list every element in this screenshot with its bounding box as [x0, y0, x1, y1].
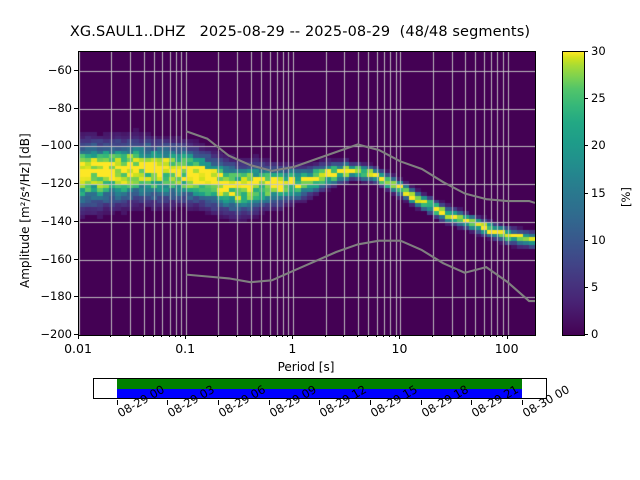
x-tick-minor	[357, 335, 358, 337]
x-tick-minor	[129, 335, 130, 337]
noise-model-curves	[79, 52, 535, 335]
x-tick-label: 10	[392, 341, 408, 356]
x-tick-minor	[161, 335, 162, 337]
colorbar-tick-label: 25	[591, 91, 606, 105]
x-tick-minor	[483, 335, 484, 337]
y-tick-label: −80	[48, 101, 72, 115]
y-tick-label: −160	[40, 252, 72, 266]
colorbar-tick	[584, 240, 588, 241]
ppsd-plot-area	[78, 51, 536, 336]
colorbar-tick	[584, 98, 588, 99]
x-tick-minor	[250, 335, 251, 337]
colorbar-tick-label: 15	[591, 186, 606, 200]
colorbar-tick-label: 20	[591, 138, 606, 152]
x-tick-minor	[269, 335, 270, 337]
timeline-tick	[370, 400, 371, 405]
x-tick-minor	[502, 335, 503, 337]
x-tick-minor	[175, 335, 176, 337]
timeline-tick	[218, 400, 219, 405]
y-tick-label: −140	[40, 214, 72, 228]
x-axis-label: Period [s]	[78, 360, 534, 374]
x-tick-minor	[474, 335, 475, 337]
x-tick-minor	[376, 335, 377, 337]
colorbar-tick-label: 30	[591, 44, 606, 58]
x-tick-minor	[496, 335, 497, 337]
y-axis-label: Amplitude [m²/s⁴/Hz] [dB]	[18, 133, 32, 288]
x-tick-minor	[260, 335, 261, 337]
x-tick-minor	[153, 335, 154, 337]
timeline-tick	[269, 400, 270, 405]
x-tick-minor	[395, 335, 396, 337]
x-tick-major	[78, 335, 79, 339]
y-tick-label: −180	[40, 289, 72, 303]
gridline-horizontal	[79, 335, 535, 336]
colorbar-tick-label: 10	[591, 233, 606, 247]
y-tick	[74, 70, 78, 71]
y-tick-label: −100	[40, 138, 72, 152]
y-tick-label: −60	[48, 63, 72, 77]
x-tick-minor	[325, 335, 326, 337]
ppsd-figure: XG.SAUL1..DHZ 2025-08-29 -- 2025-08-29 (…	[0, 0, 640, 480]
x-tick-label: 0.1	[175, 341, 195, 356]
x-tick-minor	[451, 335, 452, 337]
y-tick	[74, 145, 78, 146]
x-tick-major	[292, 335, 293, 339]
x-tick-minor	[236, 335, 237, 337]
x-tick-label: 0.01	[64, 341, 92, 356]
y-tick	[74, 296, 78, 297]
x-tick-minor	[143, 335, 144, 337]
page-title: XG.SAUL1..DHZ 2025-08-29 -- 2025-08-29 (…	[0, 24, 600, 40]
colorbar-tick-label: 5	[591, 280, 598, 294]
y-tick	[74, 221, 78, 222]
timeline-tick	[117, 400, 118, 405]
colorbar	[562, 51, 585, 336]
colorbar-tick-label: 0	[591, 327, 598, 341]
timeline-tick	[471, 400, 472, 405]
x-tick-minor	[287, 335, 288, 337]
noise-model-nhnm	[186, 131, 535, 203]
x-tick-minor	[282, 335, 283, 337]
timeline-tick	[319, 400, 320, 405]
x-tick-minor	[169, 335, 170, 337]
x-tick-label: 1	[288, 341, 296, 356]
colorbar-tick	[584, 145, 588, 146]
colorbar-label: [%]	[619, 187, 633, 207]
noise-model-nlnm	[186, 241, 535, 301]
x-tick-major	[507, 335, 508, 339]
x-tick-minor	[389, 335, 390, 337]
y-tick-label: −120	[40, 176, 72, 190]
x-tick-minor	[490, 335, 491, 337]
y-tick-label: −200	[40, 327, 72, 341]
y-tick	[74, 183, 78, 184]
x-tick-minor	[432, 335, 433, 337]
colorbar-tick	[584, 51, 588, 52]
colorbar-tick	[584, 334, 588, 335]
x-tick-label: 100	[495, 341, 519, 356]
x-tick-minor	[180, 335, 181, 337]
timeline-tick	[522, 400, 523, 405]
colorbar-tick	[584, 287, 588, 288]
x-tick-minor	[367, 335, 368, 337]
x-tick-major	[399, 335, 400, 339]
timeline-tick	[167, 400, 168, 405]
x-tick-minor	[343, 335, 344, 337]
x-tick-major	[185, 335, 186, 339]
x-tick-minor	[110, 335, 111, 337]
timeline-tick	[421, 400, 422, 405]
y-tick	[74, 259, 78, 260]
x-tick-minor	[383, 335, 384, 337]
y-tick	[74, 108, 78, 109]
x-tick-minor	[217, 335, 218, 337]
x-tick-minor	[276, 335, 277, 337]
colorbar-tick	[584, 193, 588, 194]
x-tick-minor	[464, 335, 465, 337]
